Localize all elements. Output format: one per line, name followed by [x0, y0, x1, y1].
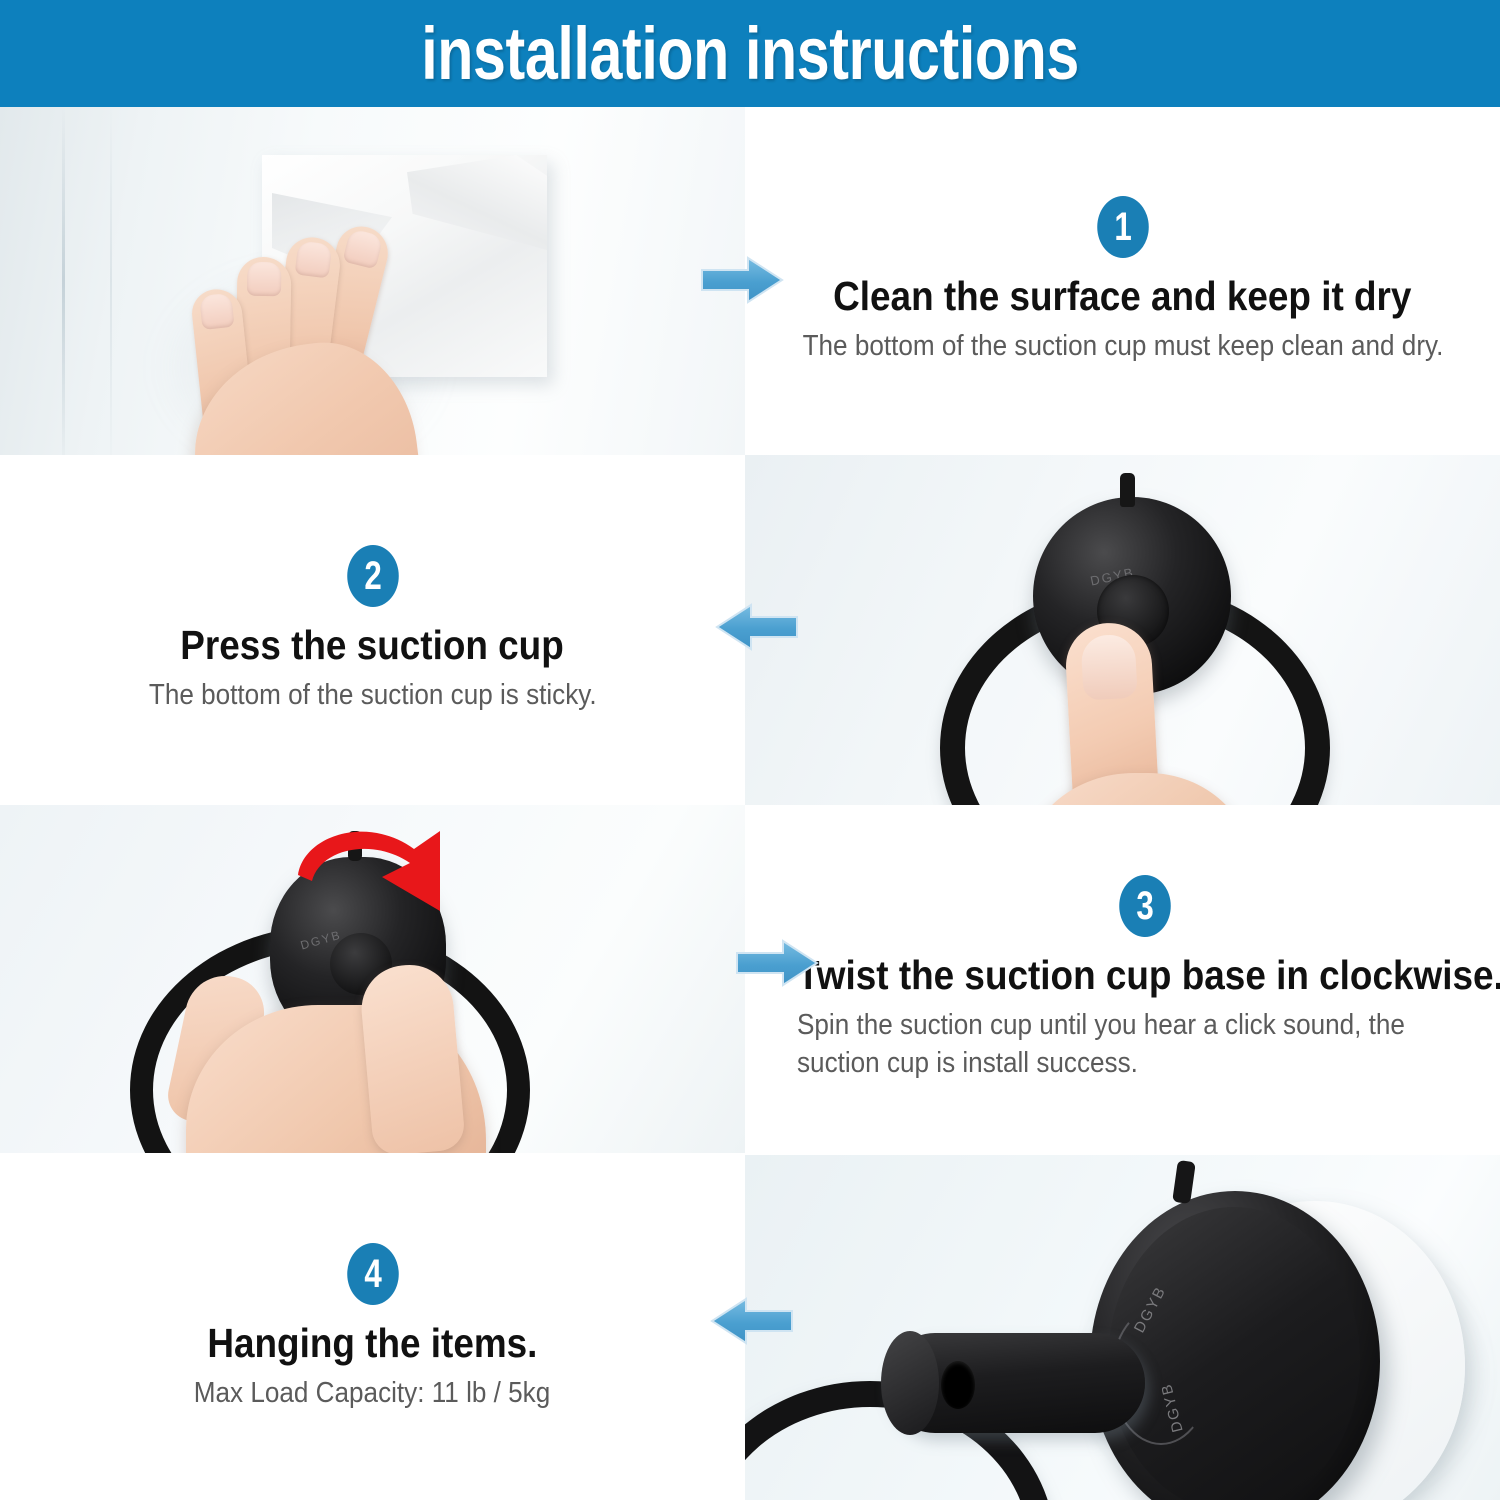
arrow-left-icon [715, 602, 799, 652]
step-1-text: 1 Clean the surface and keep it dry The … [745, 107, 1500, 455]
arrow-right-icon [700, 255, 784, 305]
wall-seam-line-secondary [110, 107, 112, 455]
fist [1025, 773, 1253, 805]
twisting-hand [186, 965, 516, 1153]
fingernail [247, 262, 282, 297]
step-2-text: 2 Press the suction cup The bottom of th… [0, 455, 745, 805]
step-3-text: 3 Twist the suction cup base in clockwis… [745, 805, 1500, 1153]
step-title-2: Press the suction cup [181, 623, 564, 669]
installation-instructions-infographic: installation instructions [0, 0, 1500, 1500]
fingernail [1080, 634, 1137, 701]
step-number-badge-3: 3 [1119, 875, 1171, 937]
step-description-2: The bottom of the suction cup is sticky. [149, 677, 597, 715]
clockwise-rotation-arrow-icon [290, 815, 480, 935]
step-number-1: 1 [1114, 207, 1131, 247]
arrow-right-icon [735, 938, 819, 988]
arrow-left-icon [710, 1296, 794, 1346]
wiping-hand [196, 213, 456, 455]
step-number-3: 3 [1136, 886, 1153, 926]
step-3-photo: DGYB [0, 805, 745, 1153]
steps-grid: 1 Clean the surface and keep it dry The … [0, 107, 1500, 1500]
wall-seam-line [62, 107, 65, 455]
fingernail [199, 293, 234, 330]
step-title-4: Hanging the items. [207, 1321, 537, 1367]
step-title-1: Clean the surface and keep it dry [833, 274, 1411, 320]
step-title-3: Twist the suction cup base in clockwise. [797, 953, 1500, 999]
step-4-text: 4 Hanging the items. Max Load Capacity: … [0, 1155, 745, 1500]
suction-cup-tab [1120, 473, 1135, 507]
step-number-badge-1: 1 [1097, 196, 1149, 258]
step-number-badge-2: 2 [347, 545, 399, 607]
step-2-photo: DGYB [745, 455, 1500, 805]
ring-mount-hole [941, 1361, 975, 1409]
page-title: installation instructions [421, 17, 1079, 91]
step-1-photo [0, 107, 745, 455]
step-4-photo: DGYB DGYB [745, 1155, 1500, 1500]
mounting-arm-cap [881, 1331, 939, 1435]
pressing-hand [1007, 623, 1277, 805]
fingernail [294, 241, 332, 279]
step-number-4: 4 [364, 1254, 381, 1294]
step-number-badge-4: 4 [347, 1243, 399, 1305]
page-header: installation instructions [0, 0, 1500, 107]
index-finger [358, 961, 466, 1153]
step-description-4: Max Load Capacity: 11 lb / 5kg [194, 1375, 550, 1413]
fingernail [343, 228, 384, 269]
step-description-1: The bottom of the suction cup must keep … [802, 328, 1443, 366]
step-description-3: Spin the suction cup until you hear a cl… [797, 1007, 1414, 1082]
step-number-2: 2 [364, 556, 381, 596]
